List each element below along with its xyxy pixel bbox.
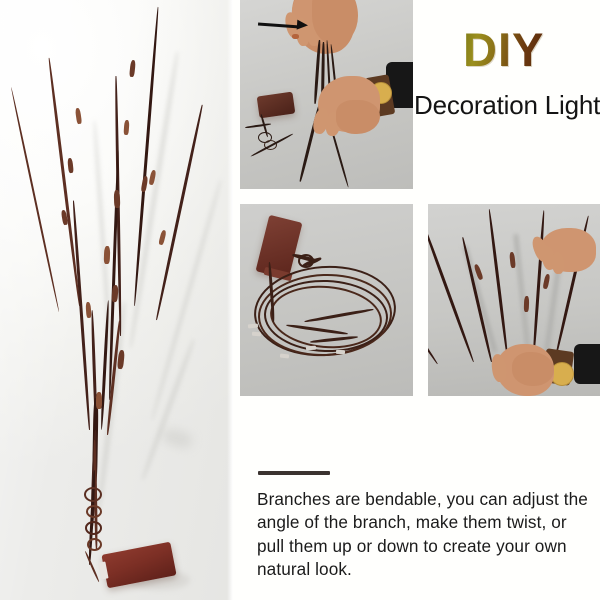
wire-coil bbox=[85, 521, 102, 535]
step-photo-arranging-stems bbox=[428, 204, 600, 396]
branch-node bbox=[524, 296, 530, 312]
hero-edge-fade bbox=[227, 0, 233, 600]
wire-tip bbox=[336, 350, 345, 354]
step-photo-hands-holding-wires bbox=[240, 0, 413, 189]
hand-lower-knuckles bbox=[512, 352, 554, 386]
wire-tip bbox=[280, 354, 289, 359]
body-copy: Branches are bendable, you can adjust th… bbox=[257, 488, 592, 582]
arrow-icon-head bbox=[297, 20, 309, 31]
step-photo-coiled-branch-lights bbox=[240, 204, 413, 396]
fingernail bbox=[292, 34, 299, 39]
wire-coil bbox=[84, 487, 102, 502]
marketing-image: DIY Decoration Light Branches are bendab… bbox=[0, 0, 600, 600]
wire-tip bbox=[252, 332, 261, 337]
sleeve bbox=[574, 344, 600, 384]
branch-node bbox=[96, 392, 102, 409]
branch-node bbox=[104, 246, 111, 264]
wire-knot-loop bbox=[298, 254, 314, 268]
hero-product-photo bbox=[0, 0, 233, 600]
branch-node bbox=[114, 190, 121, 208]
wire-tip bbox=[306, 346, 316, 351]
wire-coil bbox=[87, 538, 102, 551]
divider-rule bbox=[258, 471, 330, 475]
headline-subtitle: Decoration Light bbox=[414, 91, 600, 120]
wire-coil bbox=[86, 505, 102, 518]
headline-diy: DIY bbox=[463, 26, 544, 73]
body-copy-text: Branches are bendable, you can adjust th… bbox=[257, 488, 592, 582]
